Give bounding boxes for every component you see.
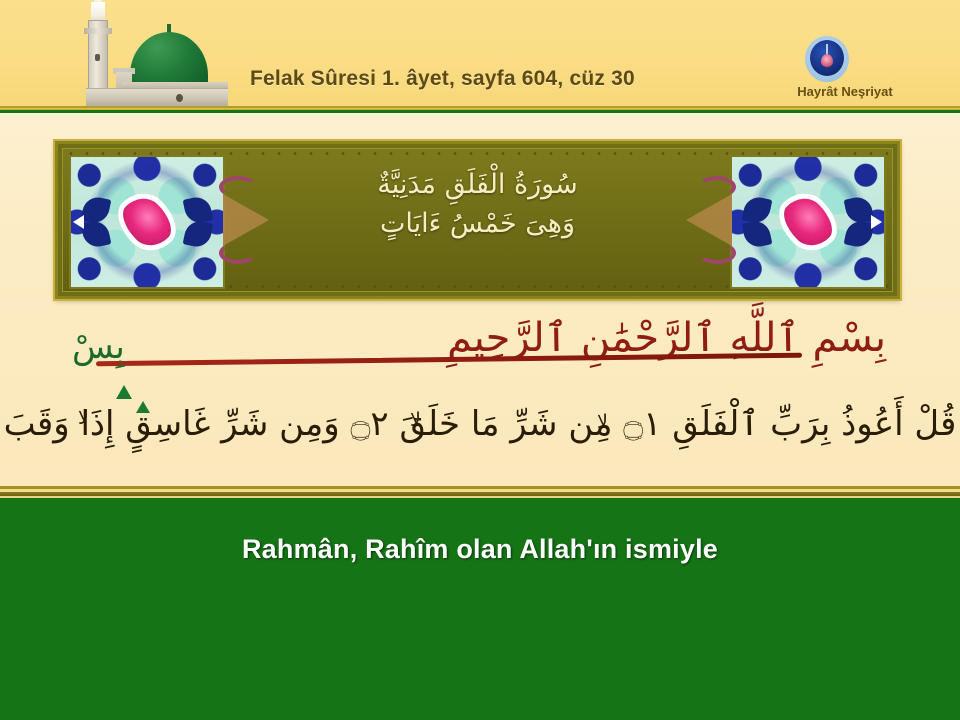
hayrat-nesriyat-logo-icon	[805, 36, 849, 82]
surah-title-text: سُورَةُ الْفَلَقِ مَدَنِيَّةٌ وَهِىَ خَم…	[63, 165, 892, 243]
publisher-logo: Hayrât Neşriyat	[760, 36, 930, 108]
bismillah-green-prefix: بِسْ	[72, 327, 125, 367]
frame-wing-hook	[698, 242, 736, 264]
publisher-name: Hayrât Neşriyat	[760, 84, 930, 99]
waqf-mark: لا	[78, 407, 89, 429]
page-title: Felak Sûresi 1. âyet, sayfa 604, cüz 30	[250, 67, 635, 91]
surah-title-line-1: سُورَةُ الْفَلَقِ مَدَنِيَّةٌ	[63, 165, 892, 204]
mushaf-page: سُورَةُ الْفَلَقِ مَدَنِيَّةٌ وَهِىَ خَم…	[0, 113, 960, 498]
header-bar: Felak Sûresi 1. âyet, sayfa 604, cüz 30 …	[0, 0, 960, 110]
sajda-green-marker	[116, 385, 132, 399]
minaret-window	[95, 54, 100, 61]
mosque-door	[176, 94, 183, 102]
waqf-mark: لا	[597, 411, 608, 433]
subtitle-band: Rahmân, Rahîm olan Allah'ın ismiyle	[0, 498, 960, 720]
surah-title-frame: سُورَةُ الْفَلَقِ مَدَنِيَّةٌ وَهِىَ خَم…	[55, 141, 900, 299]
bismillah-row: بِسْمِ ٱللَّهِ ٱلرَّحْمَٰنِ ٱلرَّحِيمِ ب…	[0, 313, 960, 401]
green-marker-icon	[136, 401, 150, 413]
frame-wing-hook	[219, 242, 257, 264]
header-divider-mid	[0, 108, 960, 110]
logo-droplet	[821, 54, 833, 67]
mosque-green-dome-icon	[72, 2, 232, 110]
quran-player-screen: Felak Sûresi 1. âyet, sayfa 604, cüz 30 …	[0, 0, 960, 720]
waqf-mark: لا	[410, 409, 421, 431]
translation-subtitle: Rahmân, Rahîm olan Allah'ın ismiyle	[0, 534, 960, 565]
surah-title-line-2: وَهِىَ خَمْسُ ءَايَاتٍ	[63, 204, 892, 243]
surah-title-frame-inner: سُورَةُ الْفَلَقِ مَدَنِيَّةٌ وَهِىَ خَم…	[62, 148, 893, 292]
ayah-row: قُلْ أَعُوذُ بِرَبِّ ٱلْفَلَقِ ۝١ مِن شَ…	[0, 401, 960, 477]
minaret-balcony	[84, 28, 112, 34]
